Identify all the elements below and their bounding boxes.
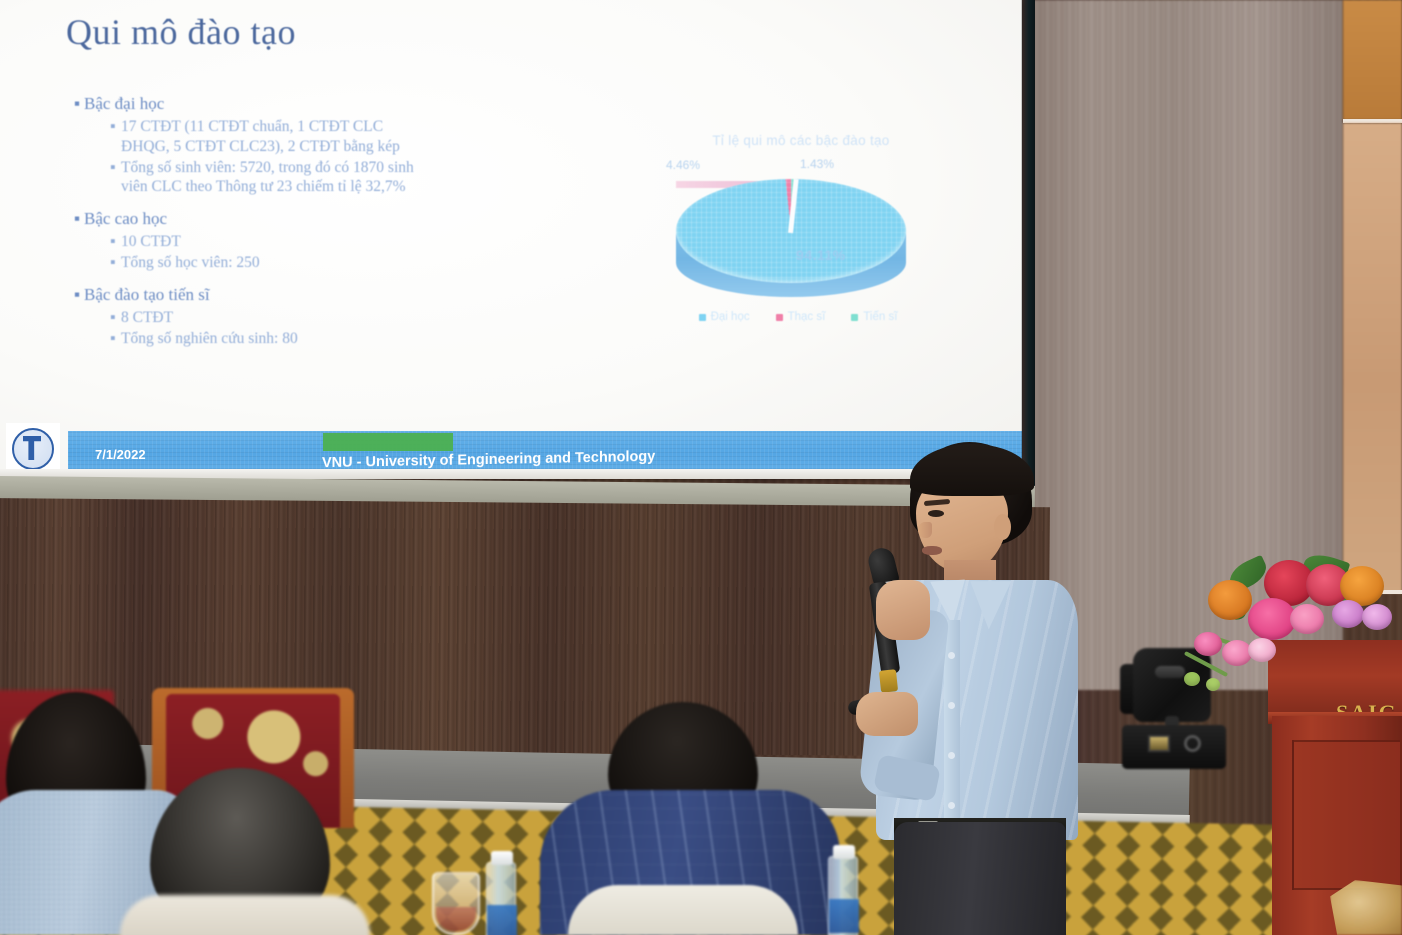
stage-light-base	[1122, 725, 1226, 769]
bullet-heading: ▪Bậc đại học	[74, 94, 626, 114]
orchid-violet	[1362, 604, 1392, 630]
bottle-cap	[491, 851, 513, 865]
bullet-marker-icon: ▪	[110, 329, 121, 349]
bullet-group: ▪Bậc cao học ▪10 CTĐT ▪Tổng số học viên:…	[66, 209, 626, 273]
chart-title: Tỉ lệ qui mô các bậc đào tạo	[666, 133, 936, 148]
orchid-pink-small	[1248, 638, 1276, 662]
bullet-item-continued: ĐHQG, 5 CTĐT CLC23), 2 CTĐT bằng kép	[121, 137, 626, 157]
stage-light-knob-icon	[1184, 735, 1201, 752]
rose-orange	[1208, 580, 1252, 620]
presenter-hair-front	[910, 444, 1034, 496]
glass-contents	[436, 907, 476, 931]
orchid-pink	[1290, 604, 1324, 634]
podium-front-panel	[1292, 740, 1402, 890]
bullet-marker-icon: ▪	[74, 285, 84, 305]
chair-white-back	[568, 885, 798, 935]
projection-screen: Qui mô đào tạo ▪Bậc đại học ▪17 CTĐT (11…	[0, 0, 1022, 479]
legend-swatch-icon	[699, 314, 706, 321]
photo-scene: Qui mô đào tạo ▪Bậc đại học ▪17 CTĐT (11…	[0, 0, 1402, 935]
bullet-item: ▪Tổng số sinh viên: 5720, trong đó có 18…	[110, 158, 626, 198]
pie-body: 94.11%	[676, 179, 906, 314]
legend-label: Tiến sĩ	[863, 311, 897, 323]
bullet-item: ▪17 CTĐT (11 CTĐT chuẩn, 1 CTĐT CLC ĐHQG…	[110, 117, 626, 157]
legend-label: Đại học	[711, 311, 750, 323]
bullet-marker-icon: ▪	[74, 209, 84, 229]
wall-panel-tan	[1343, 123, 1402, 593]
bullet-item: ▪Tổng số học viên: 250	[110, 253, 626, 273]
bullet-group: ▪Bậc đào tạo tiến sĩ ▪8 CTĐT ▪Tổng số ng…	[66, 285, 626, 349]
presenter-ear	[994, 514, 1011, 540]
stage-light-display-icon	[1148, 735, 1170, 752]
legend-label: Thạc sĩ	[788, 311, 826, 323]
chart-label-dai-hoc: 94.11%	[796, 247, 846, 263]
wall-panel-orange	[1343, 0, 1402, 120]
bottle-label	[487, 905, 517, 935]
chart-label-tien-si: 1.43%	[800, 157, 834, 171]
chart-label-thac-si: 4.46%	[666, 158, 700, 172]
presenter-mouth	[922, 546, 942, 555]
bullet-marker-icon: ▪	[110, 253, 121, 273]
presenter	[848, 430, 1098, 935]
shirt-button	[948, 752, 955, 759]
legend-item-dai-hoc: Đại học	[699, 311, 750, 323]
bullet-marker-icon: ▪	[110, 308, 121, 328]
bullet-group: ▪Bậc đại học ▪17 CTĐT (11 CTĐT chuẩn, 1 …	[66, 94, 626, 197]
microphone-battery-cap	[879, 669, 898, 693]
flower-arrangement	[1182, 556, 1402, 726]
bullet-item: ▪8 CTĐT	[110, 308, 626, 328]
chart-legend: Đại học Thạc sĩ Tiến sĩ	[668, 311, 928, 323]
bullet-item-continued: viên CLC theo Thông tư 23 chiếm tỉ lệ 32…	[121, 177, 626, 197]
bullet-marker-icon: ▪	[110, 117, 121, 137]
orchid-violet	[1332, 600, 1364, 628]
bottle-cap	[833, 845, 855, 859]
shirt-button	[948, 702, 955, 709]
stage-light-badge-icon	[1155, 666, 1185, 678]
bullet-marker-icon: ▪	[110, 232, 121, 252]
slide-title: Qui mô đào tạo	[66, 11, 296, 53]
screen-right-edge-shadow	[1021, 0, 1035, 488]
presenter-nose	[918, 522, 932, 538]
presenter-eye	[928, 510, 944, 517]
bullet-item: ▪Tổng số nghiên cứu sinh: 80	[110, 329, 626, 349]
presenter-hand-holding-microphone	[876, 580, 930, 640]
water-bottle	[486, 862, 516, 935]
bullet-marker-icon: ▪	[110, 158, 121, 178]
flower-bud	[1184, 672, 1200, 686]
legend-item-thac-si: Thạc sĩ	[776, 311, 826, 323]
legend-swatch-icon	[851, 314, 858, 321]
slide-footer-date: 7/1/2022	[95, 447, 146, 462]
bottle-label	[829, 899, 859, 933]
shirt-button	[948, 652, 955, 659]
bullet-heading: ▪Bậc đào tạo tiến sĩ	[74, 285, 626, 305]
legend-swatch-icon	[776, 314, 783, 321]
presenter-trousers	[894, 822, 1066, 935]
flower-bud	[1206, 678, 1220, 691]
orchid-pink-small	[1194, 632, 1222, 656]
pie-chart: Tỉ lệ qui mô các bậc đào tạo 4.46% 1.43%…	[648, 133, 938, 343]
water-bottle	[828, 856, 858, 935]
audience-body-light	[120, 895, 370, 935]
shirt-button	[948, 802, 955, 809]
bullet-item: ▪10 CTĐT	[110, 232, 626, 252]
orchid-pink	[1248, 598, 1296, 640]
bullet-marker-icon: ▪	[74, 94, 84, 114]
slide-bullet-list: ▪Bậc đại học ▪17 CTĐT (11 CTĐT chuẩn, 1 …	[66, 94, 626, 361]
wine-glass	[432, 872, 480, 935]
bullet-heading: ▪Bậc cao học	[74, 209, 626, 229]
presenter-hand-holding-remote	[856, 692, 918, 736]
legend-item-tien-si: Tiến sĩ	[851, 311, 897, 323]
footer-green-accent	[323, 433, 453, 451]
